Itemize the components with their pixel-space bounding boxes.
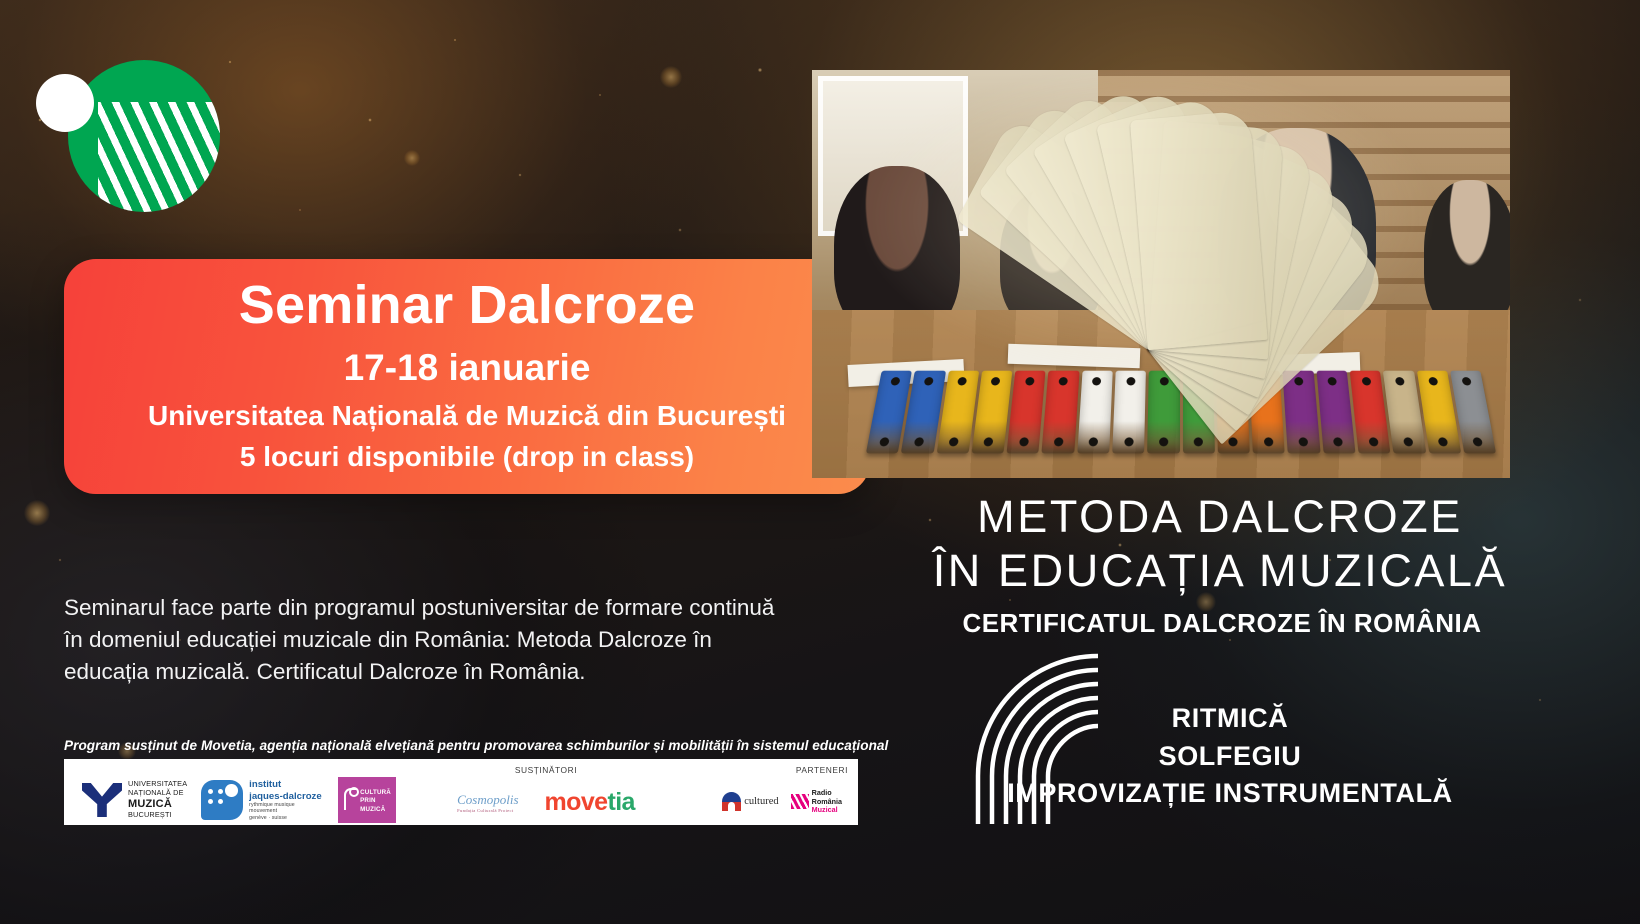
cultured-arch-icon (722, 792, 741, 811)
keyword-ritmica: RITMICĂ (880, 700, 1580, 738)
green-circle-icon (68, 60, 220, 212)
logo-cultured: cultured (722, 792, 778, 811)
description-line-2: în domeniul educației muzicale din Român… (64, 624, 839, 656)
bokeh-light (660, 66, 682, 88)
keyword-list: RITMICĂ SOLFEGIU IMPROVIZAȚIE INSTRUMENT… (880, 700, 1580, 813)
logo-institut-jaques-dalcroze: institut jaques-dalcroze rythmique musiq… (201, 779, 324, 821)
white-dot-icon (36, 74, 94, 132)
diagonal-stripes-icon (98, 102, 220, 212)
event-title: Seminar Dalcroze (239, 276, 695, 334)
poster-canvas: Seminar Dalcroze 17-18 ianuarie Universi… (0, 0, 1640, 924)
cpm-mark-icon (344, 788, 357, 810)
cosmopolis-name: Cosmopolis (457, 792, 518, 807)
bokeh-light (24, 500, 50, 526)
unmb-line-4: BUCUREȘTI (128, 811, 187, 820)
event-seats: 5 locuri disponibile (drop in class) (240, 440, 694, 473)
partners-label: PARTENERI (796, 765, 848, 775)
description-paragraph: Seminarul face parte din programul postu… (64, 592, 839, 689)
logo-cosmopolis: Cosmopolis Fundația Culturală Proiect (457, 792, 518, 813)
supporters-label: SUSȚINĂTORI (515, 765, 577, 775)
headline-block: METODA DALCROZE ÎN EDUCAȚIA MUZICALĂ (870, 492, 1570, 595)
sponsor-logo-strip: UNIVERSITATEA NAȚIONALĂ DE MUZICĂ BUCURE… (64, 759, 858, 825)
headline-line-1: METODA DALCROZE (870, 492, 1570, 542)
movetia-part-a: move (545, 788, 608, 816)
bokeh-light (404, 150, 420, 166)
event-info-card: Seminar Dalcroze 17-18 ianuarie Universi… (64, 259, 870, 494)
partners-group: PARTENERI cultured Radio România Muzical (696, 759, 858, 825)
cosmopolis-sub: Fundația Culturală Proiect (457, 808, 518, 813)
ijd-badge-icon (201, 780, 243, 820)
event-venue: Universitatea Națională de Muzică din Bu… (148, 399, 786, 432)
movetia-part-b: tia (607, 788, 634, 816)
logo-unmb: UNIVERSITATEA NAȚIONALĂ DE MUZICĂ BUCURE… (64, 780, 187, 820)
funding-note: Program susținut de Movetia, agenția naț… (64, 738, 864, 753)
cpm-line-2: PRIN (360, 797, 391, 805)
subheadline: CERTIFICATUL DALCROZE ÎN ROMÂNIA (862, 608, 1582, 639)
institution-logo-group: UNIVERSITATEA NAȚIONALĂ DE MUZICĂ BUCURE… (64, 759, 396, 825)
keyword-solfegiu: SOLFEGIU (880, 738, 1580, 776)
book-page (1130, 110, 1268, 350)
logo-movetia: movetia (545, 790, 635, 815)
headline-line-2: ÎN EDUCAȚIA MUZICALĂ (870, 546, 1570, 596)
cpm-line-1: CULTURĂ (360, 789, 391, 797)
ijd-line-4: genève · suisse (249, 815, 324, 821)
event-dates: 17-18 ianuarie (344, 348, 591, 389)
cpm-line-3: MUZICĂ (360, 806, 391, 814)
cultured-name: cultured (744, 796, 778, 807)
unmb-monogram-icon (82, 783, 122, 817)
ijd-line-3: rythmique musique mouvement (249, 802, 324, 814)
workshop-photo (812, 70, 1510, 478)
brand-logo (36, 38, 222, 214)
logo-radio-romania-muzical: Radio România Muzical (791, 789, 842, 814)
unmb-line-2: NAȚIONALĂ DE (128, 789, 187, 798)
keyword-improvizatie: IMPROVIZAȚIE INSTRUMENTALĂ (880, 775, 1580, 813)
description-line-1: Seminarul face parte din programul postu… (64, 592, 839, 624)
radio-bars-icon (791, 794, 809, 809)
logo-cultura-prin-muzica: CULTURĂ PRIN MUZICĂ (338, 777, 396, 823)
ijd-line-2: jaques-dalcroze (249, 791, 324, 803)
description-line-3: educația muzicală. Certificatul Dalcroze… (64, 656, 839, 688)
unmb-line-3: MUZICĂ (128, 798, 187, 811)
radio-line-3: Muzical (812, 806, 842, 814)
supporters-group: SUSȚINĂTORI Cosmopolis Fundația Cultural… (396, 759, 696, 825)
ijd-line-1: institut (249, 779, 324, 791)
